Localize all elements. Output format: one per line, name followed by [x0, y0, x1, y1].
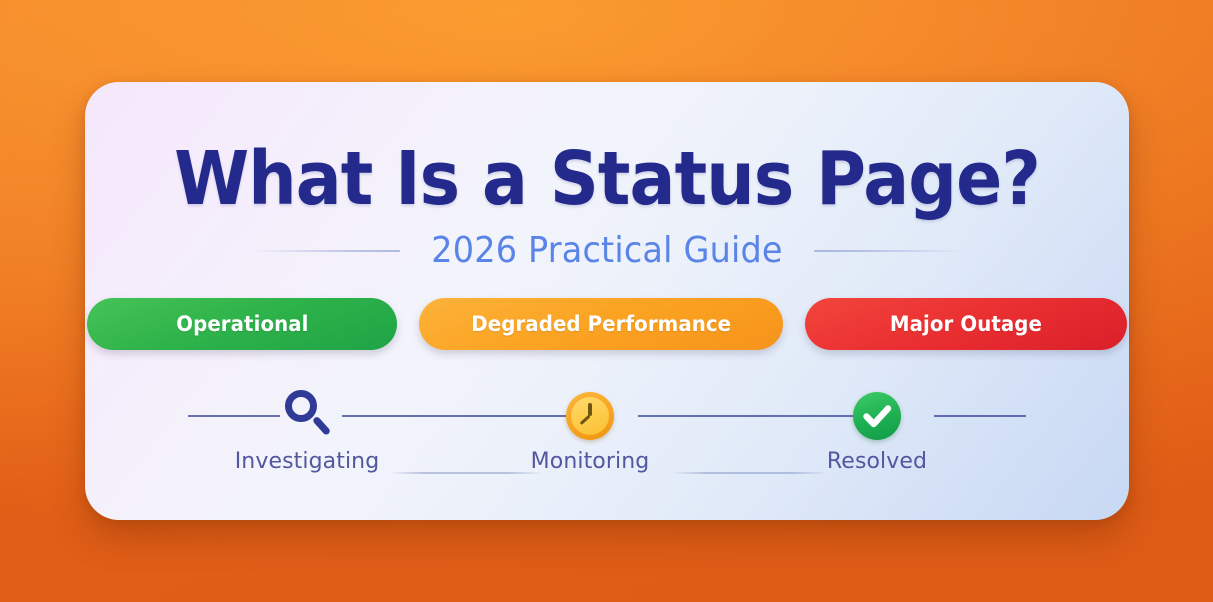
check-mark-glyph: [853, 392, 901, 440]
timeline-step-resolved-icon-wrap: [853, 388, 901, 444]
subtitle-row: 2026 Practical Guide: [85, 230, 1129, 271]
timeline-step-resolved-label: Resolved: [827, 449, 927, 474]
poster-canvas: What Is a Status Page? 2026 Practical Gu…: [0, 0, 1213, 602]
status-badge-operational[interactable]: Operational: [87, 298, 397, 350]
status-badge-row: Operational Degraded Performance Major O…: [85, 298, 1129, 350]
timeline-step-monitoring[interactable]: Monitoring: [535, 388, 645, 474]
timeline-step-monitoring-label: Monitoring: [531, 449, 650, 474]
status-badge-degraded-performance-label: Degraded Performance: [471, 312, 731, 336]
timeline-label-connector-1: [392, 472, 540, 474]
timeline-step-resolved[interactable]: Resolved: [822, 388, 932, 474]
page-subtitle: 2026 Practical Guide: [431, 230, 782, 271]
status-badge-operational-label: Operational: [176, 312, 308, 336]
timeline-step-investigating[interactable]: Investigating: [252, 388, 362, 474]
incident-timeline: Investigating Monitoring: [188, 388, 1026, 496]
magnifier-handle: [312, 416, 331, 436]
timeline-label-connector-2: [674, 472, 824, 474]
clock-icon: [566, 392, 614, 440]
magnifier-lens: [285, 390, 317, 422]
check-circle-icon: [853, 392, 901, 440]
subtitle-rule-left: [250, 250, 400, 252]
clock-hour-hand: [588, 403, 591, 416]
status-page-card: What Is a Status Page? 2026 Practical Gu…: [85, 82, 1129, 520]
page-title: What Is a Status Page?: [127, 142, 1087, 216]
timeline-step-monitoring-icon-wrap: [566, 388, 614, 444]
magnifier-icon: [283, 390, 331, 442]
status-badge-major-outage[interactable]: Major Outage: [805, 298, 1127, 350]
status-badge-degraded-performance[interactable]: Degraded Performance: [419, 298, 783, 350]
timeline-step-investigating-label: Investigating: [235, 449, 380, 474]
timeline-step-investigating-icon-wrap: [283, 388, 331, 444]
subtitle-rule-right: [814, 250, 964, 252]
timeline-nodes: Investigating Monitoring: [188, 388, 1026, 448]
status-badge-major-outage-label: Major Outage: [890, 312, 1042, 336]
timeline-label-connectors: [188, 472, 1026, 474]
